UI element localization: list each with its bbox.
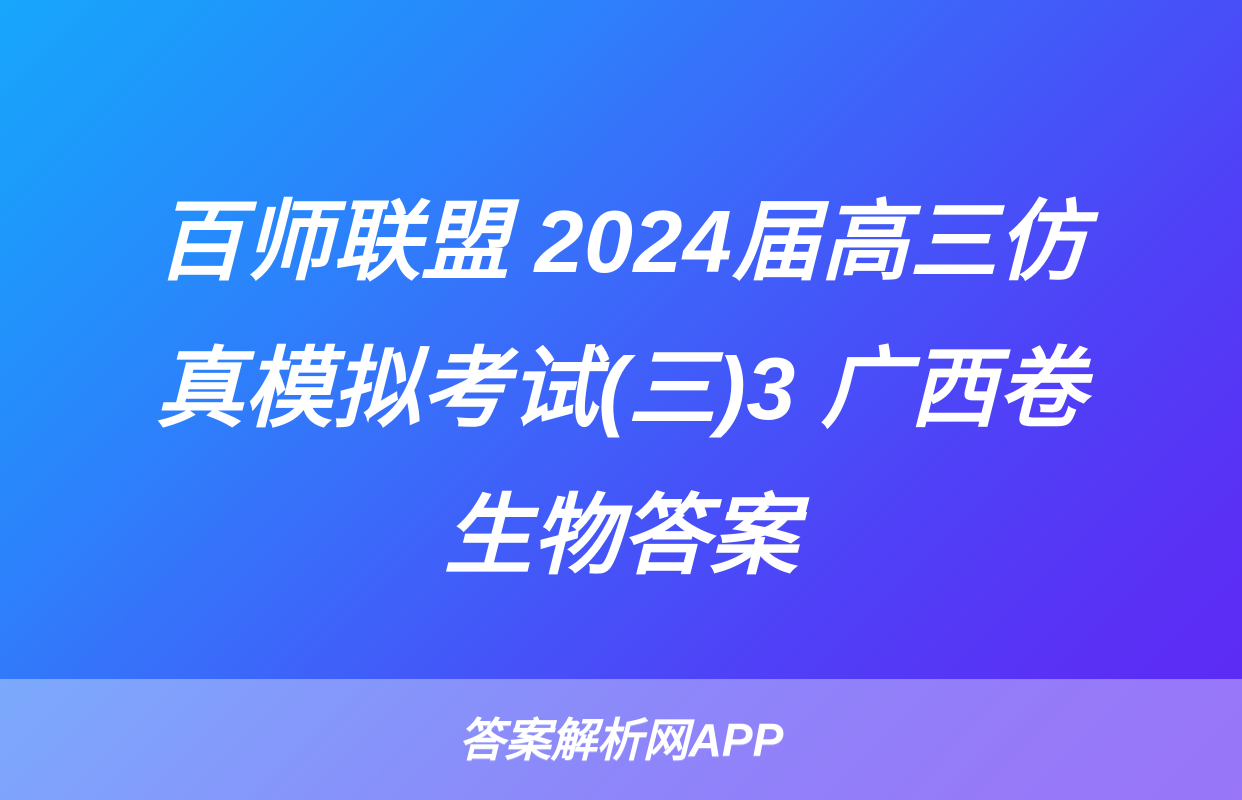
watermark-text: 答案解析网APP [459,717,784,763]
title-line-3: 生物答案 [72,462,1170,609]
title-line-2: 真模拟考试(三)3 广西卷 [72,315,1170,462]
title-line-1: 百师联盟 2024届高三仿 [72,168,1170,315]
page-title: 百师联盟 2024届高三仿 真模拟考试(三)3 广西卷 生物答案 [0,168,1242,609]
cover-image: 百师联盟 2024届高三仿 真模拟考试(三)3 广西卷 生物答案 答案解析网AP… [0,0,1242,800]
footer-watermark-band: 答案解析网APP [0,679,1242,800]
